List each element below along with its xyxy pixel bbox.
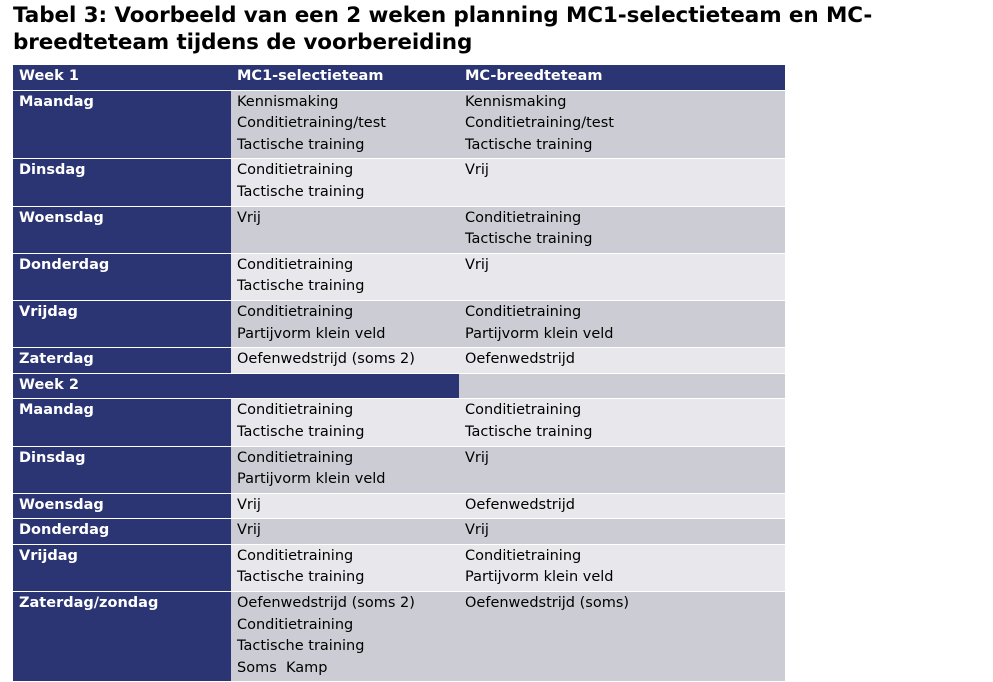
day-label-cell: Donderdag bbox=[13, 519, 231, 545]
selectieteam-text: Conditietraining Tactische training bbox=[237, 255, 459, 298]
breedteteam-text: Vrij bbox=[465, 255, 785, 277]
week2-label: Week 2 bbox=[13, 373, 231, 399]
selectieteam-cell: Conditietraining Tactische training bbox=[231, 544, 459, 591]
day-label: Woensdag bbox=[19, 208, 231, 230]
selectieteam-cell: Conditietraining Partijvorm klein veld bbox=[231, 446, 459, 493]
breedteteam-cell: Oefenwedstrijd bbox=[459, 493, 785, 519]
day-label-cell: Maandag bbox=[13, 399, 231, 446]
breedteteam-text: Oefenwedstrijd (soms) bbox=[465, 593, 785, 615]
page-root: Tabel 3: Voorbeeld van een 2 weken plann… bbox=[0, 0, 993, 617]
breedteteam-cell: Oefenwedstrijd (soms) bbox=[459, 592, 785, 682]
day-label-cell: Vrijdag bbox=[13, 300, 231, 347]
day-label-cell: Dinsdag bbox=[13, 159, 231, 206]
selectieteam-cell: Vrij bbox=[231, 206, 459, 253]
table-row: Woensdag Vrij Conditietraining Tactische… bbox=[13, 206, 785, 253]
table-row: Dinsdag Conditietraining Partijvorm klei… bbox=[13, 446, 785, 493]
selectieteam-cell: Oefenwedstrijd (soms 2) Conditietraining… bbox=[231, 592, 459, 682]
day-label: Woensdag bbox=[19, 495, 231, 517]
week2-header-blank bbox=[459, 373, 785, 399]
selectieteam-text: Conditietraining Tactische training bbox=[237, 546, 459, 589]
selectieteam-text: Oefenwedstrijd (soms 2) bbox=[237, 349, 459, 371]
day-label-cell: Maandag bbox=[13, 90, 231, 159]
day-label: Zaterdag bbox=[19, 349, 231, 371]
selectieteam-cell: Conditietraining Tactische training bbox=[231, 253, 459, 300]
table-row: Maandag Conditietraining Tactische train… bbox=[13, 399, 785, 446]
table-row: Donderdag Vrij Vrij bbox=[13, 519, 785, 545]
selectieteam-text: Vrij bbox=[237, 520, 459, 542]
selectieteam-cell: Vrij bbox=[231, 519, 459, 545]
day-label: Maandag bbox=[19, 400, 231, 422]
table-row: Maandag Kennismaking Conditietraining/te… bbox=[13, 90, 785, 159]
table-row: Vrijdag Conditietraining Tactische train… bbox=[13, 544, 785, 591]
day-label: Dinsdag bbox=[19, 160, 231, 182]
table-row: Dinsdag Conditietraining Tactische train… bbox=[13, 159, 785, 206]
table-row: Donderdag Conditietraining Tactische tra… bbox=[13, 253, 785, 300]
breedteteam-cell: Conditietraining Partijvorm klein veld bbox=[459, 300, 785, 347]
day-label: Dinsdag bbox=[19, 448, 231, 470]
breedteteam-text: Oefenwedstrijd bbox=[465, 349, 785, 371]
day-label-cell: Vrijdag bbox=[13, 544, 231, 591]
breedteteam-cell: Conditietraining Tactische training bbox=[459, 206, 785, 253]
page-title: Tabel 3: Voorbeeld van een 2 weken plann… bbox=[13, 2, 979, 56]
day-label-cell: Woensdag bbox=[13, 206, 231, 253]
table-row: Woensdag Vrij Oefenwedstrijd bbox=[13, 493, 785, 519]
day-label: Donderdag bbox=[19, 520, 231, 542]
breedteteam-cell: Vrij bbox=[459, 253, 785, 300]
selectieteam-cell: Conditietraining Tactische training bbox=[231, 399, 459, 446]
table-row: Vrijdag Conditietraining Partijvorm klei… bbox=[13, 300, 785, 347]
column-header-week: Week 1 bbox=[13, 65, 231, 91]
breedteteam-text: Conditietraining Partijvorm klein veld bbox=[465, 302, 785, 345]
selectieteam-text: Oefenwedstrijd (soms 2) Conditietraining… bbox=[237, 593, 459, 679]
breedteteam-text: Vrij bbox=[465, 520, 785, 542]
selectieteam-cell: Conditietraining Tactische training bbox=[231, 159, 459, 206]
column-header-selectieteam: MC1-selectieteam bbox=[231, 65, 459, 91]
day-label: Vrijdag bbox=[19, 546, 231, 568]
selectieteam-text: Vrij bbox=[237, 495, 459, 517]
selectieteam-text: Conditietraining Partijvorm klein veld bbox=[237, 448, 459, 491]
day-label: Donderdag bbox=[19, 255, 231, 277]
day-label: Zaterdag/zondag bbox=[19, 593, 231, 615]
selectieteam-cell: Kennismaking Conditietraining/test Tacti… bbox=[231, 90, 459, 159]
breedteteam-cell: Conditietraining Tactische training bbox=[459, 399, 785, 446]
breedteteam-text: Vrij bbox=[465, 448, 785, 470]
week1-header-row: Week 1 MC1-selectieteam MC-breedteteam bbox=[13, 65, 785, 91]
selectieteam-cell: Oefenwedstrijd (soms 2) bbox=[231, 348, 459, 374]
day-label: Maandag bbox=[19, 92, 231, 114]
breedteteam-cell: Kennismaking Conditietraining/test Tacti… bbox=[459, 90, 785, 159]
selectieteam-text: Conditietraining Tactische training bbox=[237, 160, 459, 203]
breedteteam-text: Kennismaking Conditietraining/test Tacti… bbox=[465, 92, 785, 157]
planning-table-container: Week 1 MC1-selectieteam MC-breedteteam M… bbox=[13, 64, 785, 682]
day-label-cell: Woensdag bbox=[13, 493, 231, 519]
selectieteam-text: Vrij bbox=[237, 208, 459, 230]
table-row: Zaterdag/zondag Oefenwedstrijd (soms 2) … bbox=[13, 592, 785, 682]
selectieteam-text: Conditietraining Tactische training bbox=[237, 400, 459, 443]
day-label-cell: Dinsdag bbox=[13, 446, 231, 493]
day-label-cell: Donderdag bbox=[13, 253, 231, 300]
breedteteam-cell: Vrij bbox=[459, 519, 785, 545]
breedteteam-text: Conditietraining Partijvorm klein veld bbox=[465, 546, 785, 589]
planning-table: Week 1 MC1-selectieteam MC-breedteteam M… bbox=[13, 64, 785, 682]
selectieteam-text: Kennismaking Conditietraining/test Tacti… bbox=[237, 92, 459, 157]
day-label-cell: Zaterdag bbox=[13, 348, 231, 374]
day-label: Vrijdag bbox=[19, 302, 231, 324]
table-row: Zaterdag Oefenwedstrijd (soms 2) Oefenwe… bbox=[13, 348, 785, 374]
breedteteam-text: Vrij bbox=[465, 160, 785, 182]
selectieteam-cell: Vrij bbox=[231, 493, 459, 519]
breedteteam-text: Conditietraining Tactische training bbox=[465, 400, 785, 443]
selectieteam-cell: Conditietraining Partijvorm klein veld bbox=[231, 300, 459, 347]
breedteteam-cell: Conditietraining Partijvorm klein veld bbox=[459, 544, 785, 591]
breedteteam-cell: Vrij bbox=[459, 446, 785, 493]
breedteteam-text: Conditietraining Tactische training bbox=[465, 208, 785, 251]
column-header-breedteteam: MC-breedteteam bbox=[459, 65, 785, 91]
breedteteam-cell: Oefenwedstrijd bbox=[459, 348, 785, 374]
week2-header-row: Week 2 bbox=[13, 373, 785, 399]
selectieteam-text: Conditietraining Partijvorm klein veld bbox=[237, 302, 459, 345]
week2-header-spacer bbox=[231, 373, 459, 399]
day-label-cell: Zaterdag/zondag bbox=[13, 592, 231, 682]
breedteteam-cell: Vrij bbox=[459, 159, 785, 206]
breedteteam-text: Oefenwedstrijd bbox=[465, 495, 785, 517]
